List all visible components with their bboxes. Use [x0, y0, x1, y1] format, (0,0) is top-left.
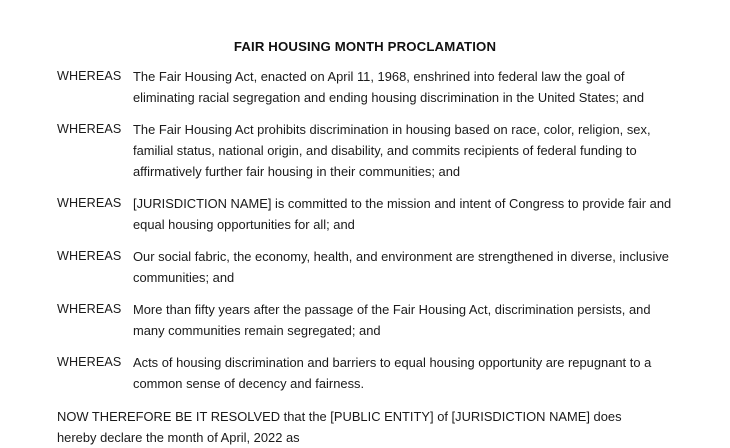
whereas-clause: WHEREAS The Fair Housing Act prohibits d… [57, 119, 675, 182]
proclamation-body: WHEREAS The Fair Housing Act, enacted on… [57, 66, 675, 448]
whereas-label: WHEREAS [57, 352, 133, 373]
whereas-text: [JURISDICTION NAME] is committed to the … [133, 193, 675, 235]
whereas-label: WHEREAS [57, 299, 133, 320]
whereas-label: WHEREAS [57, 66, 133, 87]
page-title: FAIR HOUSING MONTH PROCLAMATION [0, 38, 730, 55]
whereas-label: WHEREAS [57, 246, 133, 267]
whereas-text: The Fair Housing Act, enacted on April 1… [133, 66, 675, 108]
whereas-clause: WHEREAS Acts of housing discrimination a… [57, 352, 675, 394]
whereas-clause: WHEREAS More than fifty years after the … [57, 299, 675, 341]
whereas-label: WHEREAS [57, 119, 133, 140]
whereas-text: More than fifty years after the passage … [133, 299, 675, 341]
whereas-text: Acts of housing discrimination and barri… [133, 352, 675, 394]
whereas-label: WHEREAS [57, 193, 133, 214]
whereas-clause: WHEREAS [JURISDICTION NAME] is committed… [57, 193, 675, 235]
document-page: FAIR HOUSING MONTH PROCLAMATION WHEREAS … [0, 0, 730, 428]
resolution-closing-text: NOW THEREFORE BE IT RESOLVED that the [P… [57, 406, 657, 448]
whereas-clause: WHEREAS The Fair Housing Act, enacted on… [57, 66, 675, 108]
whereas-text: Our social fabric, the economy, health, … [133, 246, 675, 288]
whereas-text: The Fair Housing Act prohibits discrimin… [133, 119, 675, 182]
whereas-clause: WHEREAS Our social fabric, the economy, … [57, 246, 675, 288]
